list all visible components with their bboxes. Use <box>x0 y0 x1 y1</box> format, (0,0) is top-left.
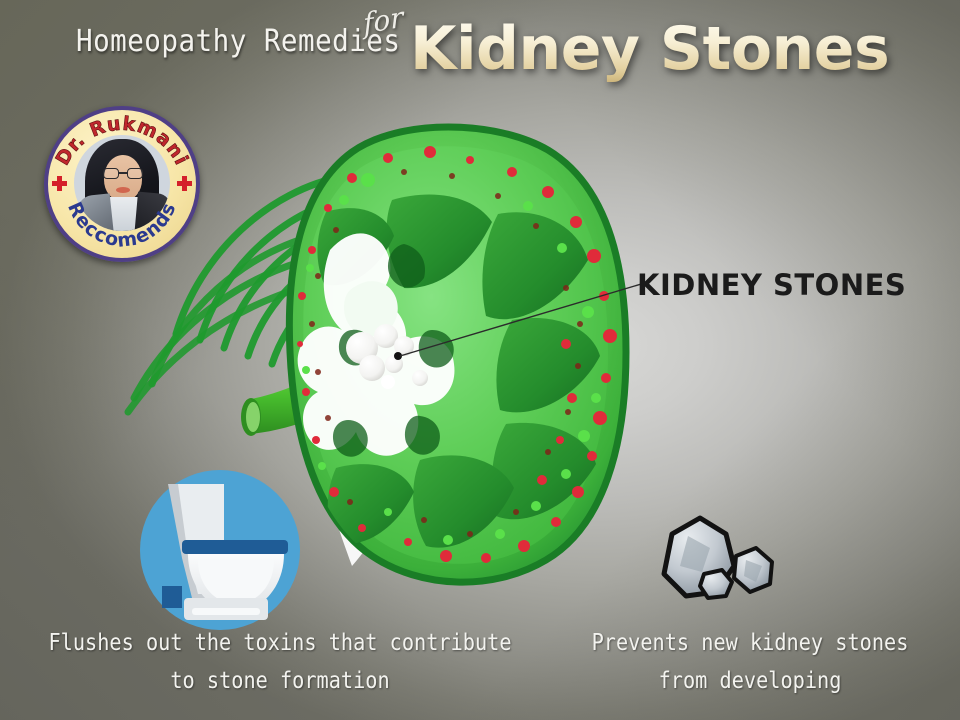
svg-text:Reccomends: Reccomends <box>63 199 181 252</box>
benefit-caption-right: Prevents new kidney stones from developi… <box>565 624 935 700</box>
badge-bottom-text: Reccomends <box>63 199 181 252</box>
toilet-icon <box>132 462 308 638</box>
svg-text:Dr. Rukmani: Dr. Rukmani <box>51 113 192 169</box>
benefit-caption-left: Flushes out the toxins that contribute t… <box>42 624 517 700</box>
kidney-body <box>289 127 626 582</box>
badge-curved-text: Dr. Rukmani Reccomends <box>44 106 200 262</box>
doctor-badge: Dr. Rukmani Reccomends <box>44 106 200 262</box>
callout-label-kidney-stones: KIDNEY STONES <box>637 268 906 302</box>
poster-root: Homeopathy Remedies for Kidney Stones <box>0 0 960 720</box>
badge-top-text: Dr. Rukmani <box>51 113 192 169</box>
kidney-stones-icon <box>664 518 772 598</box>
